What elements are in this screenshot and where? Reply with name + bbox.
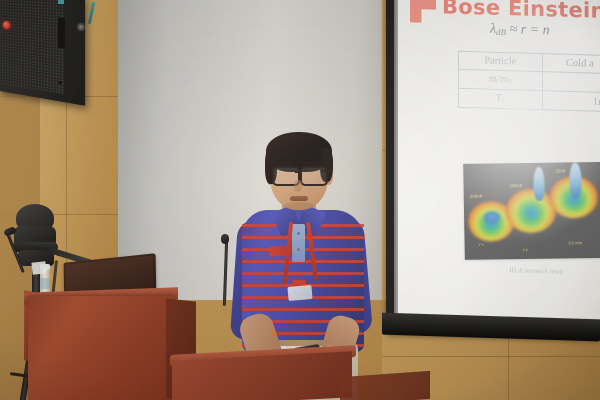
slide-table: Particle Cold a m/m0 10 Tc 1nK [458,51,600,112]
table-cell-critical-temp: Tc [459,88,543,109]
bec-axis-label: v y [523,247,528,252]
slide-formula: λdB ≈ r = n [490,22,550,40]
figure-caption: JILA research team [476,265,596,276]
wooden-podium [28,296,174,400]
table-cell-temp-value: 1nK [542,91,600,112]
table-row: Tc 1nK [459,88,600,111]
table-header-cold-atoms: Cold a [542,54,600,74]
presenter-head [266,134,332,212]
eyeglasses-bridge [295,171,302,173]
presenter-shirt-placket [292,224,305,262]
bec-velocity-distribution-plot: 200nK 100nK 20nK v x v y 0.2 mm [463,162,600,260]
bec-peak-label: 20nK [555,168,566,173]
slide-title: Bose Einstein [442,0,600,23]
formula-rest: ≈ r = n [510,22,550,38]
projection-screen: Bose Einstein λdB ≈ r = n Particle Cold … [398,0,600,323]
table-cell-mass-ratio: m/m0 [459,69,543,90]
table-header-row: Particle Cold a [459,51,600,73]
speaker-power-led-icon [3,21,10,29]
gooseneck-microphone-head [221,234,229,244]
speaker-screw [59,81,62,85]
bec-peak-label: 200nK [470,194,483,199]
square-bullet-icon [410,0,436,23]
lecture-room-photo: Bose Einstein λdB ≈ r = n Particle Cold … [0,0,600,400]
presenter-mouth [290,196,308,201]
name-badge [287,285,312,301]
slide-content: Bose Einstein λdB ≈ r = n Particle Cold … [398,0,600,323]
bec-scale-label: 0.2 mm [569,240,582,245]
bottle-label [40,278,50,289]
bec-peak-label: 100nK [510,183,523,188]
presenter-chin-shadow [284,202,314,210]
table-header-particle: Particle [459,51,543,71]
speaker-grille [1,0,64,94]
table-cell-mass-value: 10 [542,72,600,93]
wall-light-reflection [76,22,86,32]
front-desk [172,351,352,400]
formula-lambda: λ [490,22,496,37]
wall-mounted-loudspeaker [0,0,85,106]
speaker-mount-bracket [58,0,64,4]
presenter-nose [294,180,302,192]
formula-lambda-subscript: dB [496,27,506,37]
front-desk-right-section [340,371,430,400]
bec-axis-label: v x [479,242,484,247]
speaker-port-slot [58,17,65,48]
table-row: m/m0 10 [459,69,600,92]
